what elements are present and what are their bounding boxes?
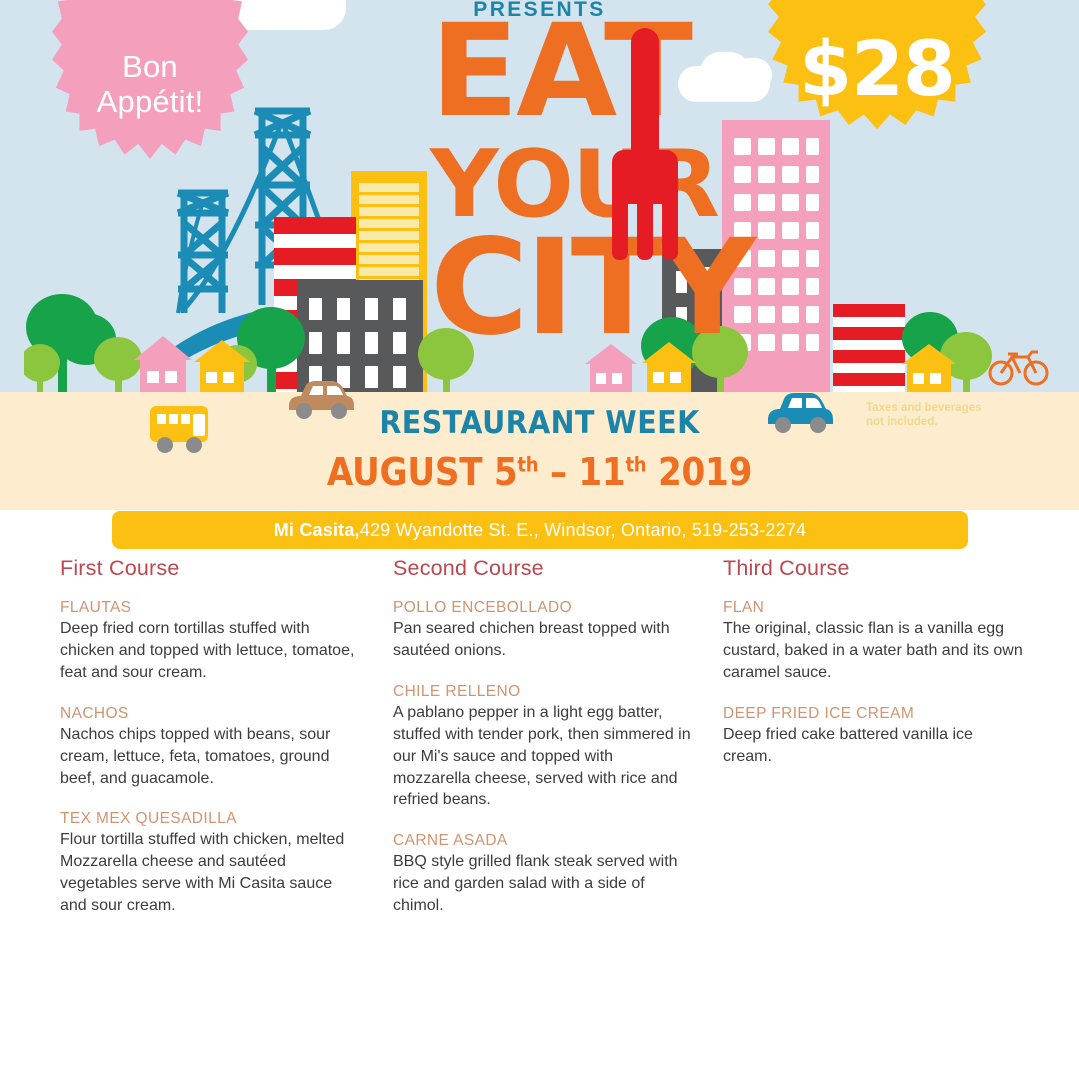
- course-title: First Course: [60, 556, 360, 581]
- menu-item: CARNE ASADA BBQ style grilled flank stea…: [393, 832, 693, 917]
- menu-item: FLAN The original, classic flan is a van…: [723, 599, 1023, 684]
- hero-illustration: PRESENTS EAT YOUR CITY Bon Appétit!: [0, 0, 1079, 392]
- house-icon: [900, 342, 958, 392]
- menu-item-desc: Deep fried cake battered vanilla ice cre…: [723, 724, 1023, 768]
- event-logo: EAT YOUR CITY: [424, 18, 704, 358]
- menu-item-desc: A pablano pepper in a light egg batter, …: [393, 702, 693, 812]
- date-sup1: th: [517, 452, 538, 476]
- menu-item-desc: Pan seared chichen breast topped with sa…: [393, 618, 693, 662]
- menu-item-name: TEX MEX QUESADILLA: [60, 810, 360, 828]
- restaurant-address: 429 Wyandotte St. E., Windsor, Ontario, …: [360, 520, 807, 541]
- bicycle-icon: [988, 346, 1050, 386]
- tree-icon: [24, 287, 144, 392]
- menu-item-name: CHILE RELLENO: [393, 683, 693, 701]
- menu-item: NACHOS Nachos chips topped with beans, s…: [60, 705, 360, 790]
- menu-column-second-course: Second Course POLLO ENCEBOLLADO Pan sear…: [393, 556, 693, 938]
- bon-appetit-text: Bon Appétit!: [97, 8, 204, 119]
- menu-item: CHILE RELLENO A pablano pepper in a ligh…: [393, 683, 693, 812]
- menu-item-desc: Deep fried corn tortillas stuffed with c…: [60, 618, 360, 684]
- menu-item-desc: The original, classic flan is a vanilla …: [723, 618, 1023, 684]
- taxes-note-line2: not included.: [866, 416, 938, 428]
- menu-item: FLAUTAS Deep fried corn tortillas stuffe…: [60, 599, 360, 684]
- restaurant-name: Mi Casita,: [274, 520, 360, 541]
- menu-item-name: NACHOS: [60, 705, 360, 723]
- date-sup2: th: [625, 452, 646, 476]
- bon-appetit-line2: Appétit!: [97, 84, 204, 119]
- bon-appetit-line1: Bon: [122, 49, 178, 84]
- restaurant-address-bar: Mi Casita, 429 Wyandotte St. E., Windsor…: [112, 511, 968, 549]
- logo-line-city: CITY: [430, 233, 752, 344]
- taxes-note: Taxes and beverages not included.: [866, 401, 1006, 430]
- house-icon: [132, 334, 194, 392]
- menu-item-name: FLAN: [723, 599, 1023, 617]
- course-title: Second Course: [393, 556, 693, 581]
- menu-item: TEX MEX QUESADILLA Flour tortilla stuffe…: [60, 810, 360, 917]
- fork-icon: [612, 28, 678, 260]
- menu-item-name: DEEP FRIED ICE CREAM: [723, 705, 1023, 723]
- price-text: $28: [799, 0, 955, 113]
- menu-column-third-course: Third Course FLAN The original, classic …: [723, 556, 1023, 789]
- building-red-striped-right: [833, 304, 905, 392]
- event-dates: AUGUST 5th – 11th 2019: [54, 450, 1025, 494]
- menu-column-first-course: First Course FLAUTAS Deep fried corn tor…: [60, 556, 360, 938]
- house-icon: [192, 338, 252, 392]
- event-band: RESTAURANT WEEK AUGUST 5th – 11th 2019 T…: [0, 392, 1079, 510]
- date-mid: – 11: [538, 450, 625, 494]
- menu-item: POLLO ENCEBOLLADO Pan seared chichen bre…: [393, 599, 693, 662]
- menu-item-name: FLAUTAS: [60, 599, 360, 617]
- menu-item: DEEP FRIED ICE CREAM Deep fried cake bat…: [723, 705, 1023, 768]
- menu-item-desc: Nachos chips topped with beans, sour cre…: [60, 724, 360, 790]
- menu-item-desc: BBQ style grilled flank steak served wit…: [393, 851, 693, 917]
- taxes-note-line1: Taxes and beverages: [866, 402, 982, 414]
- course-title: Third Course: [723, 556, 1023, 581]
- date-suffix: 2019: [646, 450, 752, 494]
- menu-item-name: POLLO ENCEBOLLADO: [393, 599, 693, 617]
- cloud-icon: [732, 58, 772, 92]
- poster: PRESENTS EAT YOUR CITY Bon Appétit!: [0, 0, 1079, 1079]
- menu-item-desc: Flour tortilla stuffed with chicken, mel…: [60, 829, 360, 917]
- menu-item-name: CARNE ASADA: [393, 832, 693, 850]
- date-prefix: AUGUST 5: [327, 450, 518, 494]
